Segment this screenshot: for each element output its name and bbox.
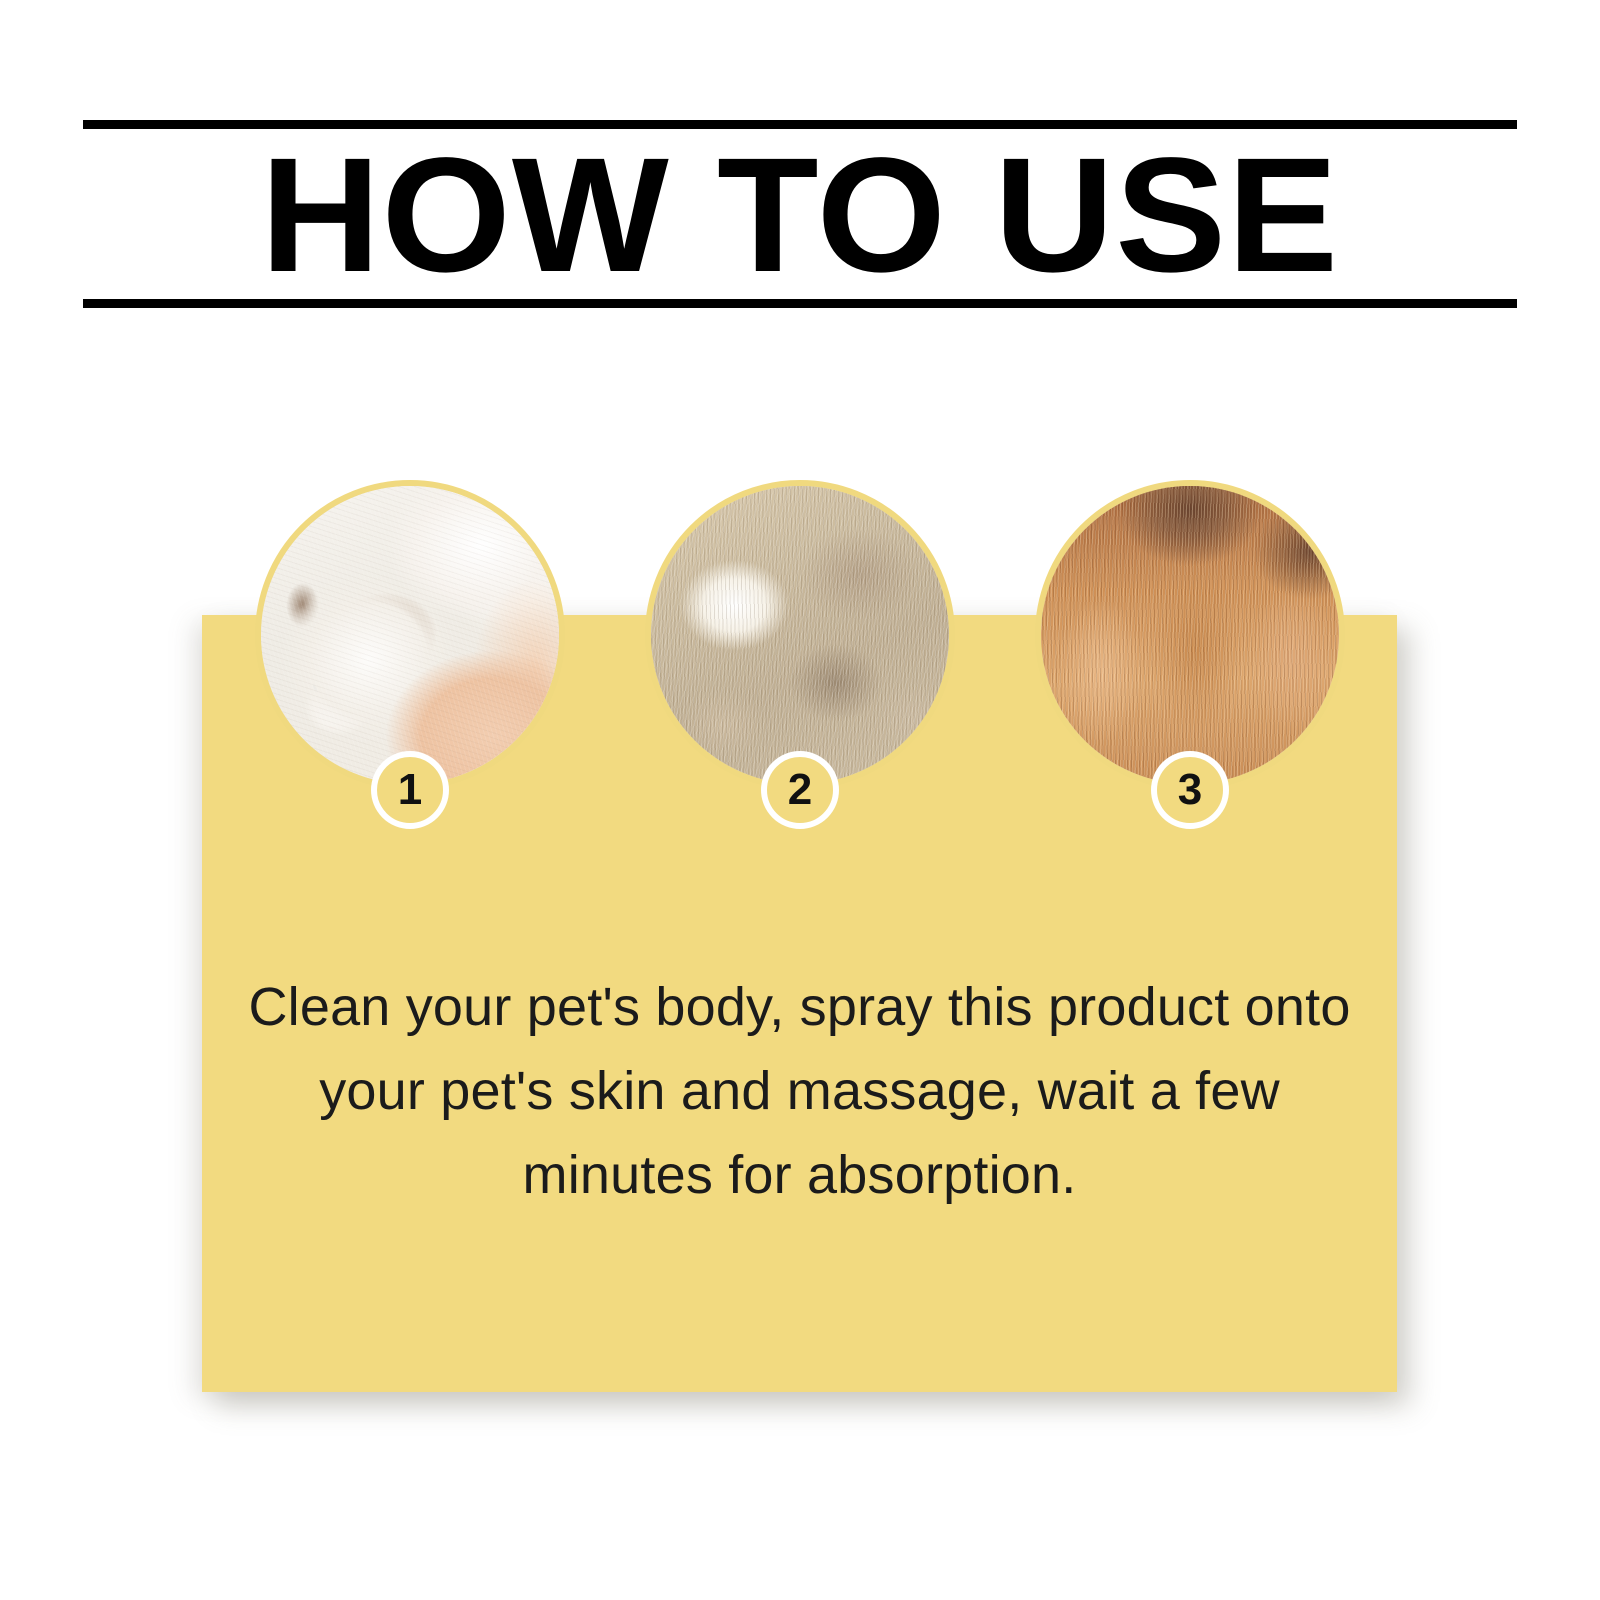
cat-being-wiped-with-glove-photo	[261, 486, 559, 784]
step-3-photo-ring	[1035, 480, 1345, 790]
instruction-text: Clean your pet's body, spray this produc…	[232, 965, 1367, 1217]
healthy-dense-ginger-fur-closeup-photo	[1041, 486, 1339, 784]
header-block: HOW TO USE	[83, 120, 1517, 308]
page-title: HOW TO USE	[261, 133, 1340, 296]
title-row: HOW TO USE	[83, 129, 1517, 299]
step-1: 1	[255, 480, 565, 790]
how-to-use-infographic: HOW TO USE 1 2 3	[0, 0, 1600, 1600]
step-2-badge-number: 2	[788, 768, 812, 812]
step-1-badge: 1	[371, 751, 449, 829]
step-1-badge-number: 1	[398, 768, 422, 812]
step-2-badge: 2	[761, 751, 839, 829]
step-3-badge-number: 3	[1178, 768, 1202, 812]
step-3-badge: 3	[1151, 751, 1229, 829]
step-3: 3	[1035, 480, 1345, 790]
step-1-photo-ring	[255, 480, 565, 790]
step-2: 2	[645, 480, 955, 790]
thinning-patchy-fur-closeup-photo	[651, 486, 949, 784]
step-2-photo-ring	[645, 480, 955, 790]
